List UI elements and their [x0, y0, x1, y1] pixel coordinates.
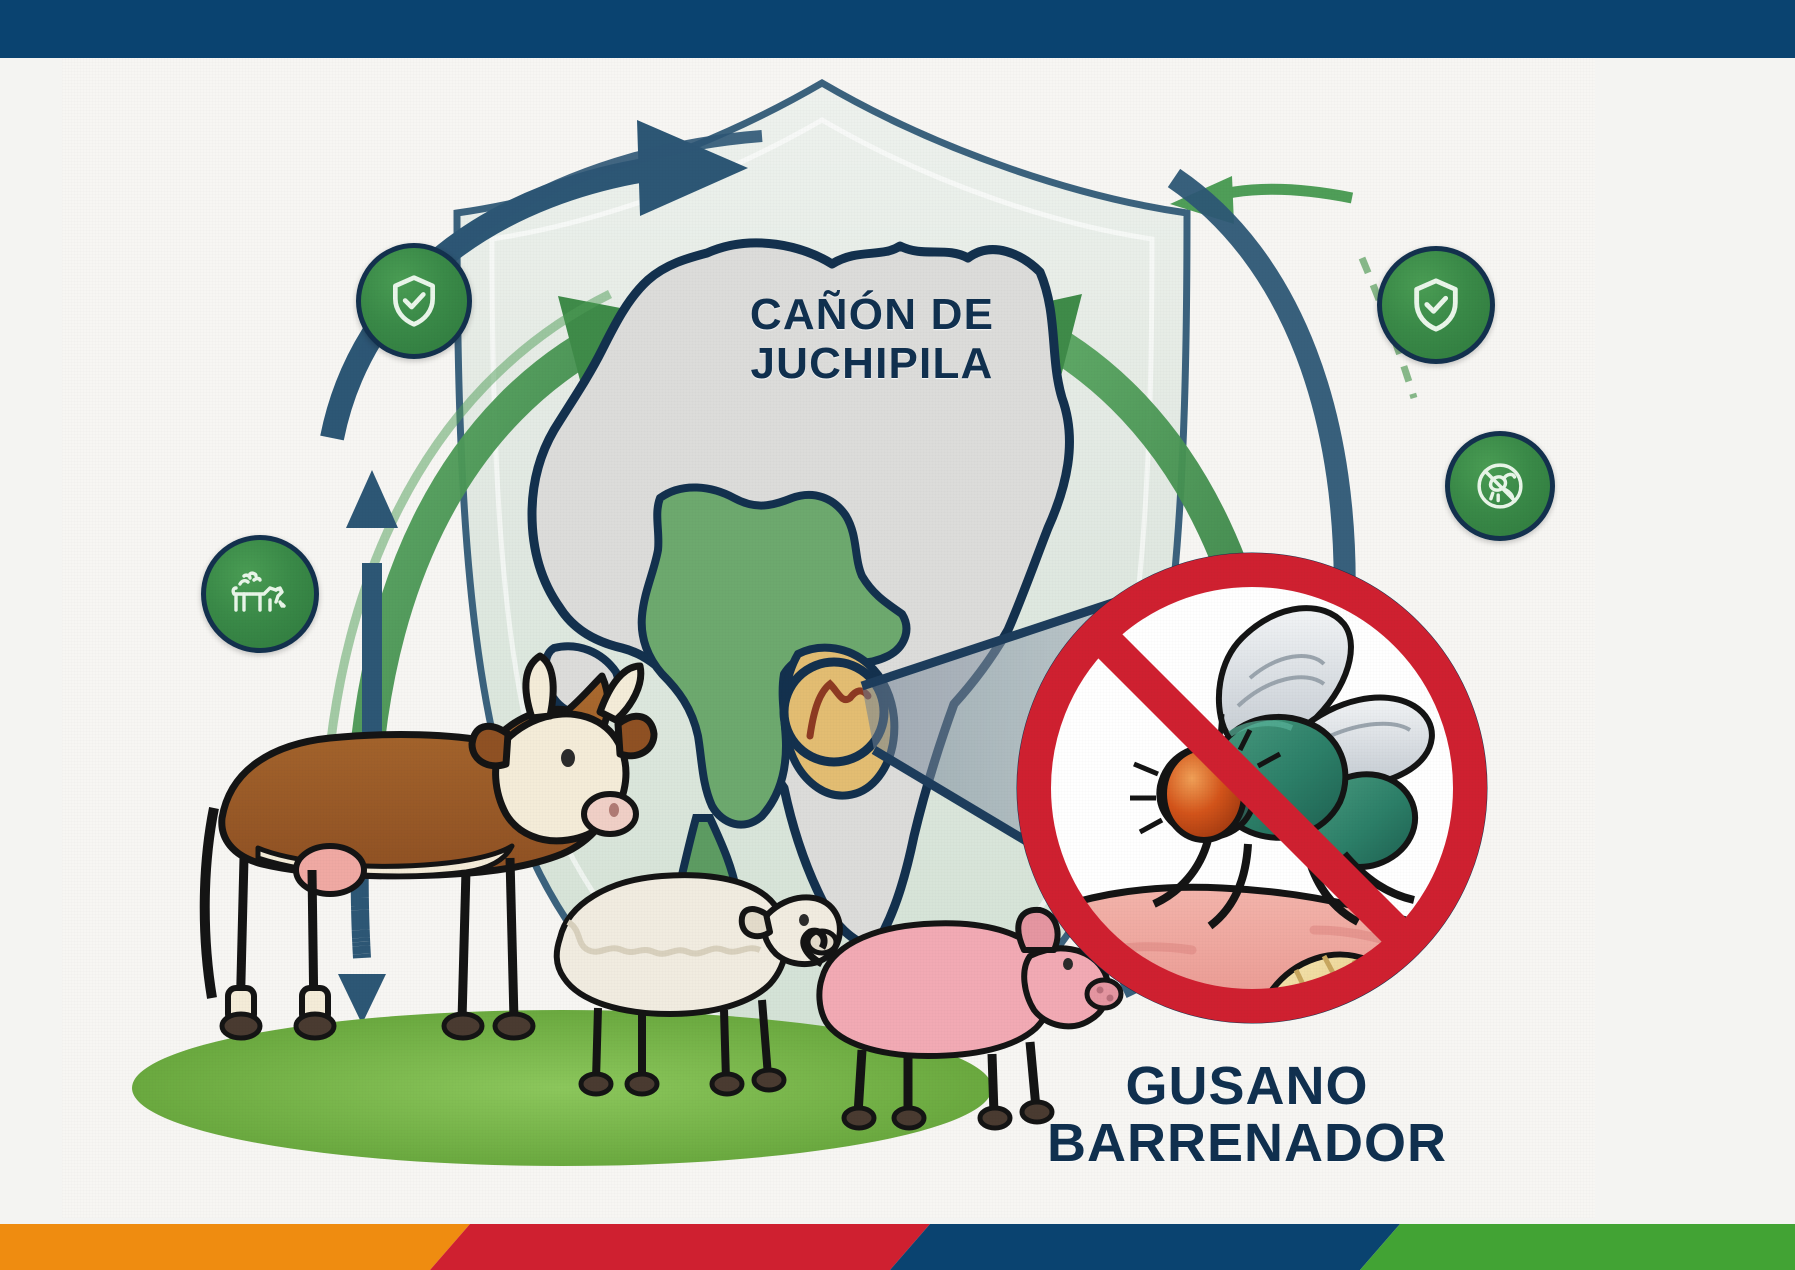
pest-label-line2: BARRENADOR	[992, 1115, 1502, 1172]
left-margin	[0, 58, 62, 1218]
no-fly-prohibition-icon	[1471, 457, 1529, 515]
bottom-color-stripe	[0, 1218, 1795, 1270]
shield-check-icon	[386, 271, 442, 331]
right-margin	[1595, 58, 1795, 1218]
pest-label-line1: GUSANO	[992, 1058, 1502, 1115]
region-title-line1: CAÑÓN DE	[692, 290, 1052, 339]
badge-shield-check-left[interactable]	[356, 243, 472, 359]
illustration-area: CAÑÓN DE JUCHIPILA GUSANO BARRENADOR	[62, 58, 1595, 1218]
stripe-segment-navy	[890, 1224, 1400, 1270]
stripe-segment-red	[430, 1224, 930, 1270]
badge-livestock-left[interactable]	[201, 535, 319, 653]
livestock-cow-icon	[228, 566, 292, 622]
region-title-line2: JUCHIPILA	[692, 339, 1052, 388]
top-navy-bar	[0, 0, 1795, 58]
shield-check-icon	[1407, 274, 1465, 336]
region-title: CAÑÓN DE JUCHIPILA	[692, 290, 1052, 389]
poster-canvas: CAÑÓN DE JUCHIPILA GUSANO BARRENADOR	[0, 0, 1795, 1270]
stripe-segment-orange	[0, 1224, 470, 1270]
badge-shield-check-right[interactable]	[1377, 246, 1495, 364]
stripe-segment-green	[1360, 1224, 1795, 1270]
pest-label: GUSANO BARRENADOR	[992, 1058, 1502, 1172]
badge-no-fly-right[interactable]	[1445, 431, 1555, 541]
